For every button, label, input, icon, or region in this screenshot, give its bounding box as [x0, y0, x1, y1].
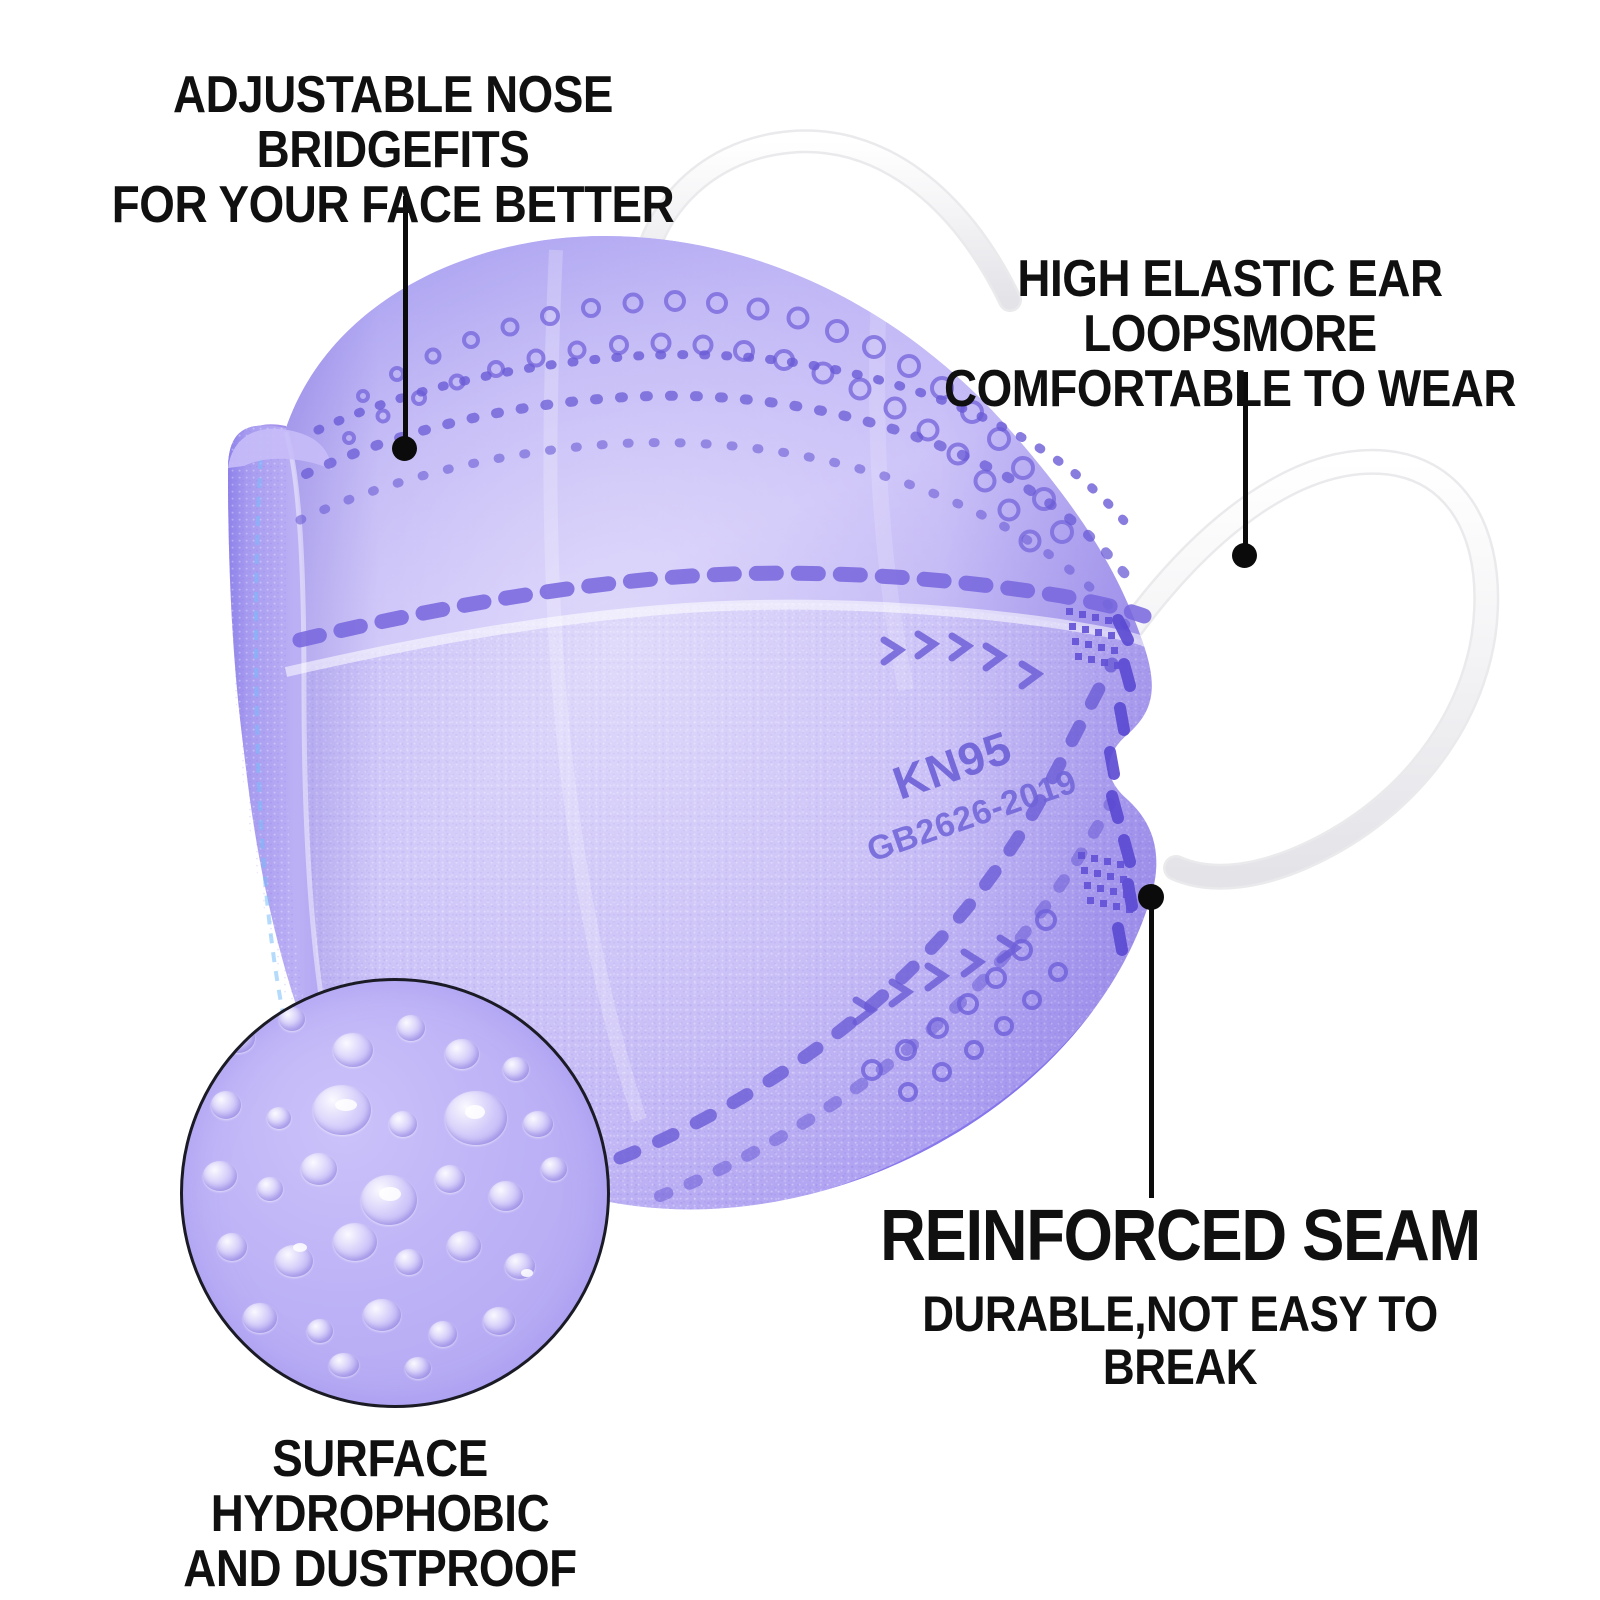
leader-dot-ear-loops — [1232, 543, 1257, 568]
leader-line-reinforced-seam — [1149, 898, 1154, 1198]
hydrophobic-detail-circle — [180, 978, 610, 1408]
infographic-canvas: KN95 GB2626-2019 — [0, 0, 1600, 1600]
callout-reinforced-seam-subtitle: DURABLE,NOT EASY TO BREAK — [872, 1288, 1488, 1394]
ear-loop-lower — [1128, 462, 1486, 877]
callout-nose-bridge-text: ADJUSTABLE NOSE BRIDGEFITS FOR YOUR FACE… — [72, 68, 714, 233]
leader-dot-reinforced-seam — [1138, 884, 1164, 910]
callout-surface-hydrophobic-text: SURFACE HYDROPHOBIC AND DUSTPROOF — [98, 1432, 661, 1597]
callout-reinforced-seam-title: REINFORCED SEAM — [872, 1198, 1488, 1274]
callout-ear-loops-text: HIGH ELASTIC EAR LOOPSMORE COMFORTABLE T… — [904, 252, 1555, 417]
leader-dot-nose-bridge — [392, 436, 417, 461]
